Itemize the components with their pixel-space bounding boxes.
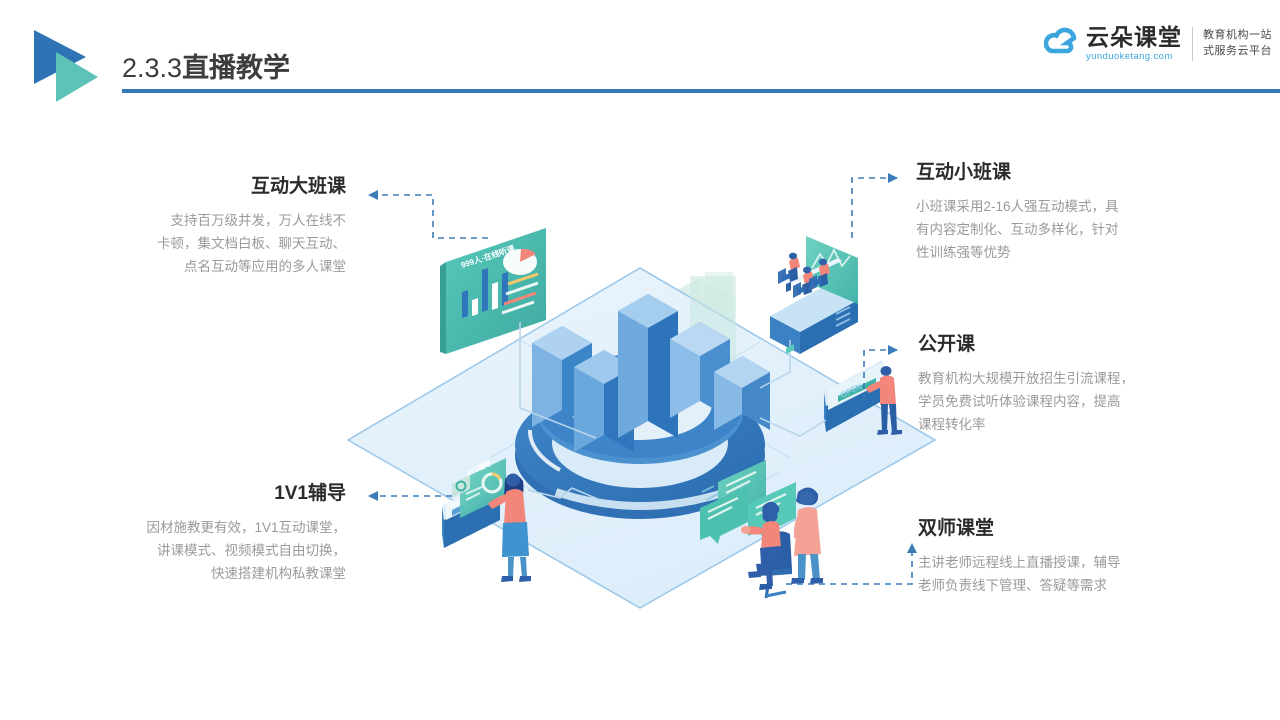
slide-canvas: 2.3.3直播教学 云朵课堂 yunduoketang.com 教育机构一站 式… [0, 0, 1280, 720]
callout-body: 主讲老师远程线上直播授课，辅导 老师负责线下管理、答疑等需求 [918, 551, 1186, 597]
callout-title: 互动小班课 [916, 162, 1186, 185]
callout-title: 公开课 [918, 334, 1186, 357]
callout-open-course: 公开课 教育机构大规模开放招生引流课程， 学员免费试听体验课程内容，提高 课程转… [918, 334, 1186, 436]
callout-title: 互动大班课 [98, 176, 346, 199]
callout-body: 小班课采用2-16人强互动模式，具 有内容定制化、互动多样化，针对 性训练强等优… [916, 195, 1186, 265]
callout-dual-teacher-class: 双师课堂 主讲老师远程线上直播授课，辅导 老师负责线下管理、答疑等需求 [918, 518, 1186, 597]
callout-one-on-one-tutoring: 1V1辅导 因材施教更有效，1V1互动课堂， 讲课模式、视频模式自由切换， 快速… [98, 483, 346, 585]
callout-interactive-large-class: 互动大班课 支持百万级并发，万人在线不 卡顿，集文档白板、聊天互动、 点名互动等… [98, 176, 346, 278]
callout-body: 因材施教更有效，1V1互动课堂， 讲课模式、视频模式自由切换， 快速搭建机构私教… [98, 516, 346, 586]
callout-body: 教育机构大规模开放招生引流课程， 学员免费试听体验课程内容，提高 课程转化率 [918, 367, 1186, 437]
callout-interactive-small-class: 互动小班课 小班课采用2-16人强互动模式，具 有内容定制化、互动多样化，针对 … [916, 162, 1186, 264]
callout-body: 支持百万级并发，万人在线不 卡顿，集文档白板、聊天互动、 点名互动等应用的多人课… [98, 209, 346, 279]
callout-title: 双师课堂 [918, 518, 1186, 541]
callout-title: 1V1辅导 [98, 483, 346, 506]
